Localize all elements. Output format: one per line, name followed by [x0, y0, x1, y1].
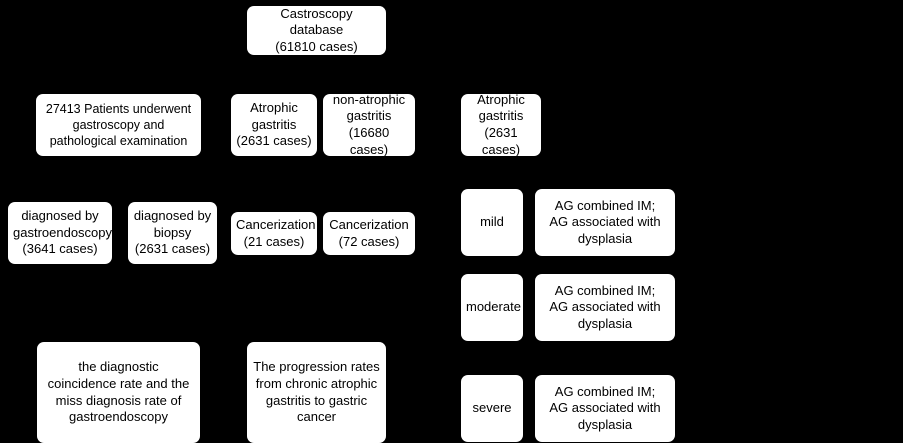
- flow-node-severe: severe: [461, 375, 523, 442]
- flow-node-atrophic2: Atrophic gastritis (2631 cases): [461, 94, 541, 156]
- flow-node-moderate: moderate: [461, 274, 523, 341]
- flow-node-label: mild: [466, 214, 518, 231]
- flow-node-moderate-ag: AG combined IM; AG associated with dyspl…: [535, 274, 675, 341]
- flow-node-label: Cancerization (72 cases): [328, 217, 410, 250]
- flow-node-label: diagnosed by gastroendoscopy (3641 cases…: [13, 208, 107, 258]
- flow-node-mild: mild: [461, 189, 523, 256]
- flow-node-cancer21: Cancerization (21 cases): [231, 212, 317, 255]
- flow-node-patients: 27413 Patients underwent gastroscopy and…: [36, 94, 201, 156]
- flow-node-label: diagnosed by biopsy (2631 cases): [133, 208, 212, 258]
- flow-node-cancer72: Cancerization (72 cases): [323, 212, 415, 255]
- flow-node-diag-rate: the diagnostic coincidence rate and the …: [37, 342, 200, 443]
- flow-node-severe-ag: AG combined IM; AG associated with dyspl…: [535, 375, 675, 442]
- flow-node-label: The progression rates from chronic atrop…: [252, 359, 381, 426]
- flow-node-root: Castroscopy database (61810 cases): [247, 6, 386, 55]
- diagram-canvas: Castroscopy database (61810 cases)27413 …: [0, 0, 903, 443]
- flow-node-label: 27413 Patients underwent gastroscopy and…: [41, 101, 196, 149]
- flow-node-label: Cancerization (21 cases): [236, 217, 312, 250]
- flow-node-atrophic1: Atrophic gastritis (2631 cases): [231, 94, 317, 156]
- flow-node-label: AG combined IM; AG associated with dyspl…: [540, 384, 670, 434]
- flow-node-label: non-atrophic gastritis (16680 cases): [328, 94, 410, 156]
- flow-node-label: Atrophic gastritis (2631 cases): [236, 100, 312, 150]
- flow-node-label: the diagnostic coincidence rate and the …: [42, 359, 195, 426]
- flow-node-label: AG combined IM; AG associated with dyspl…: [540, 198, 670, 248]
- flow-node-mild-ag: AG combined IM; AG associated with dyspl…: [535, 189, 675, 256]
- flow-node-label: severe: [466, 400, 518, 417]
- flow-node-label: Castroscopy database (61810 cases): [252, 6, 381, 55]
- flow-node-label: Atrophic gastritis (2631 cases): [466, 94, 536, 156]
- flow-node-diag-biopsy: diagnosed by biopsy (2631 cases): [128, 202, 217, 264]
- flow-node-label: moderate: [466, 299, 518, 316]
- flow-node-diag-endo: diagnosed by gastroendoscopy (3641 cases…: [8, 202, 112, 264]
- flow-node-nonatrophic: non-atrophic gastritis (16680 cases): [323, 94, 415, 156]
- flow-node-label: AG combined IM; AG associated with dyspl…: [540, 283, 670, 333]
- flow-node-progression: The progression rates from chronic atrop…: [247, 342, 386, 443]
